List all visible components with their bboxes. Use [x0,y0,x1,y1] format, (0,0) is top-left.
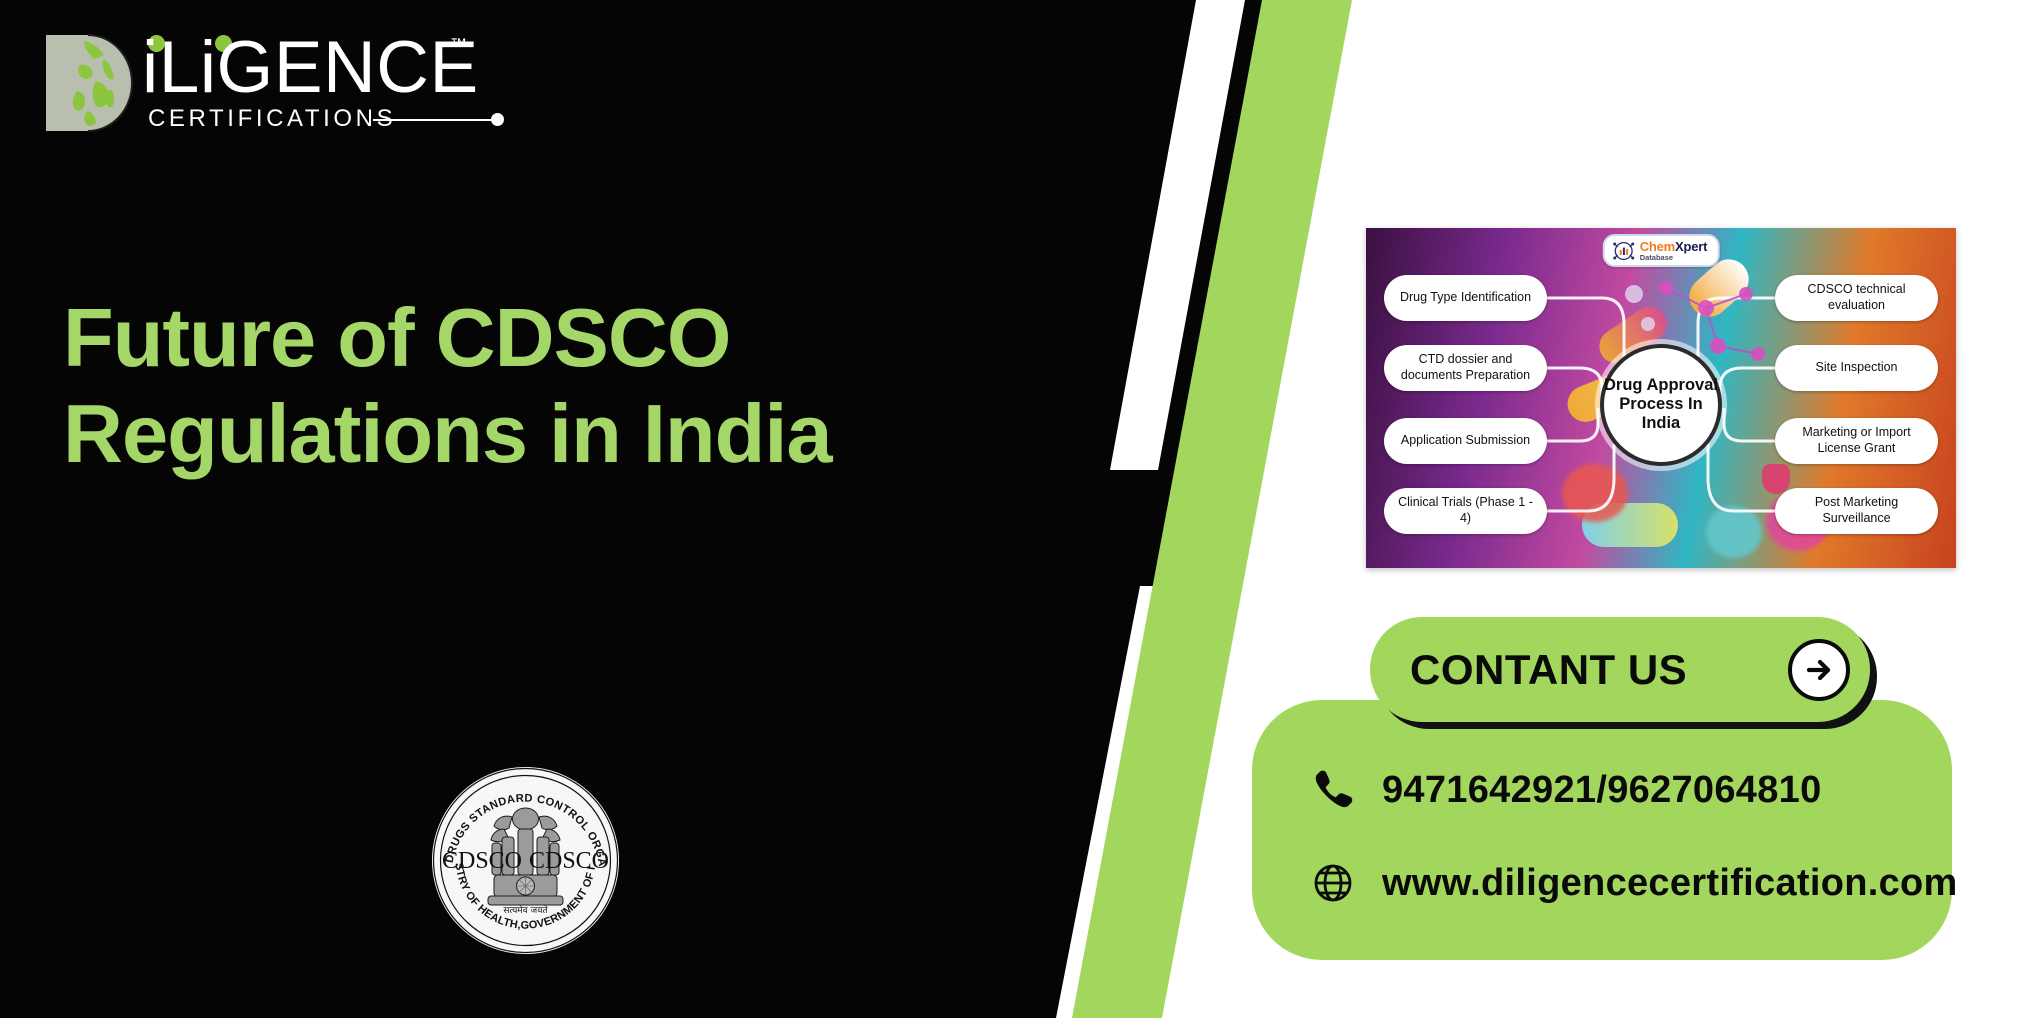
svg-text:CDSCO: CDSCO [442,848,522,874]
globe-icon [1310,860,1356,906]
step-chip-marketing-import-license[interactable]: Marketing or Import License Grant [1775,418,1938,464]
globe-d-icon [44,31,136,135]
headline-line-1: Future of CDSCO [63,290,943,386]
chemxpert-brand-part2: pert [1684,239,1708,254]
step-chip-drug-type-identification[interactable]: Drug Type Identification [1384,275,1547,321]
chemxpert-brand-part1: Chem [1640,239,1675,254]
step-chip-application-submission[interactable]: Application Submission [1384,418,1547,464]
contact-phone-value: 9471642921/9627064810 [1382,769,1822,812]
drug-approval-infographic[interactable]: ChemXpert Database Drug Type Identificat… [1366,228,1956,568]
logo-tagline: CERTIFICATIONS [148,105,396,133]
promo-banner: iLiGENCE ™ CERTIFICATIONS Future of CDSC… [0,0,2036,1018]
chemxpert-badge[interactable]: ChemXpert Database [1603,234,1720,267]
phone-icon [1310,767,1356,813]
infographic-center-title: Drug Approval Process In India [1600,344,1722,466]
step-chip-cdsco-technical-evaluation[interactable]: CDSCO technical evaluation [1775,275,1938,321]
chemxpert-subtitle: Database [1640,254,1708,262]
headline-block: Future of CDSCO Regulations in India [63,290,943,483]
chemxpert-brand-x: X [1675,239,1683,254]
contact-website-row[interactable]: www.diligencecertification.com [1310,860,1958,906]
contact-card [1252,700,1952,960]
contact-website-value: www.diligencecertification.com [1382,862,1958,905]
arrow-right-circle-icon [1788,639,1850,701]
chemxpert-chart-icon [1613,240,1635,262]
cdsco-emblem-icon: CENTRAL DRUGS STANDARD CONTROL ORGANISAT… [432,767,619,954]
contact-us-button[interactable]: CONTANT US [1370,617,1870,722]
contact-us-label: CONTANT US [1410,646,1788,694]
brand-logo[interactable]: iLiGENCE ™ CERTIFICATIONS [44,27,544,142]
step-chip-clinical-trials[interactable]: Clinical Trials (Phase 1 - 4) [1384,488,1547,534]
step-chip-ctd-dossier[interactable]: CTD dossier and documents Preparation [1384,345,1547,391]
svg-text:सत्यमेव जयते: सत्यमेव जयते [503,904,548,916]
logo-end-dot [491,113,504,126]
contact-phone-row[interactable]: 9471642921/9627064810 [1310,767,1822,813]
svg-text:CDSCO: CDSCO [529,848,609,874]
step-chip-site-inspection[interactable]: Site Inspection [1775,345,1938,391]
step-chip-post-marketing-surveillance[interactable]: Post Marketing Surveillance [1775,488,1938,534]
logo-wordmark: iLiGENCE [142,31,479,104]
trademark-mark: ™ [450,35,467,55]
logo-divider-line [373,119,494,121]
headline-line-2: Regulations in India [63,386,943,482]
